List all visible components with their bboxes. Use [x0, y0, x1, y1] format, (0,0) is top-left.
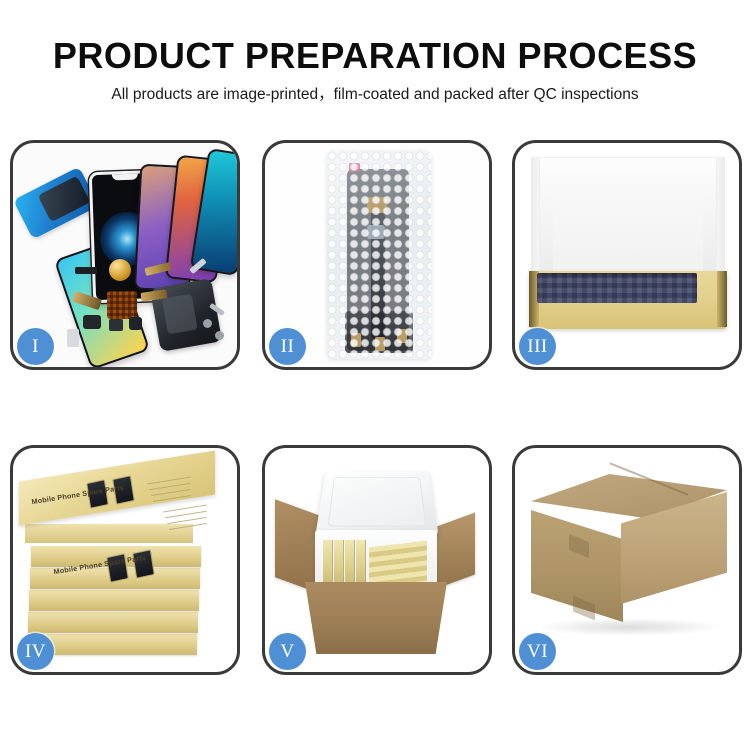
bubble-wrap-bag-icon [327, 151, 431, 359]
stacked-box-icon [28, 612, 198, 633]
product-preparation-infographic: PRODUCT PREPARATION PROCESS All products… [0, 0, 750, 750]
tray-edge-icon [717, 271, 727, 327]
page-title: PRODUCT PREPARATION PROCESS [0, 36, 750, 76]
step-frame: II [262, 140, 492, 370]
step-badge-6: VI [519, 633, 556, 670]
step-frame: VI [512, 445, 742, 675]
inner-boxes-icon [323, 540, 429, 588]
step-badge-5: V [269, 633, 306, 670]
process-step-5: V [262, 445, 492, 675]
stacked-box-icon [29, 590, 199, 611]
process-step-3: III [512, 140, 742, 370]
step-badge-4: IV [17, 633, 54, 670]
step-badge-3: III [519, 328, 556, 365]
step-numeral: V [280, 642, 294, 661]
inner-box-stack-icon [369, 540, 427, 588]
bubble-texture-icon [327, 151, 431, 359]
taptic-module-icon [129, 317, 142, 330]
process-step-1: I [10, 140, 240, 370]
carton-shadow [535, 618, 723, 636]
camera-module-icon [83, 315, 101, 329]
screw-icon [215, 331, 224, 340]
step-frame: I [10, 140, 240, 370]
process-step-6: VI [512, 445, 742, 675]
step-badge-2: II [269, 328, 306, 365]
step-numeral: I [32, 337, 39, 356]
step-numeral: IV [25, 642, 46, 661]
step-frame: III [512, 140, 742, 370]
sim-tray-icon [67, 329, 79, 347]
foam-lid-icon [315, 470, 438, 535]
inner-box-icon [334, 540, 343, 588]
screw-icon [203, 319, 212, 328]
step-frame: V [262, 445, 492, 675]
carton-front-panel-icon [305, 582, 447, 654]
inner-box-icon [345, 540, 354, 588]
header: PRODUCT PREPARATION PROCESS All products… [0, 0, 750, 122]
process-step-4: Mobile Phone Spare Parts Mobile Phone Sp… [10, 445, 240, 675]
process-step-2: II [262, 140, 492, 370]
inner-box-icon [356, 540, 365, 588]
step-numeral: II [281, 337, 295, 356]
white-box-lid-icon [539, 157, 717, 283]
top-box-group: Mobile Phone Spare Parts [19, 466, 215, 528]
step-numeral: III [527, 337, 547, 356]
phone-flexible-screen-icon [13, 167, 99, 240]
step-frame: Mobile Phone Spare Parts Mobile Phone Sp… [10, 445, 240, 675]
grey-foam-insert-icon [537, 273, 697, 303]
page-subtitle: All products are image-printed，film-coat… [0, 84, 750, 106]
inner-box-icon [323, 540, 332, 588]
vibration-motor-icon [109, 259, 131, 281]
phone-notch-icon [112, 174, 138, 181]
speaker-module-icon [109, 319, 123, 331]
step-numeral: VI [527, 642, 548, 661]
battery-part-icon [75, 267, 97, 274]
logic-board-chip-icon [107, 291, 137, 319]
process-step-grid: I [0, 128, 750, 688]
step-badge-1: I [17, 328, 54, 365]
